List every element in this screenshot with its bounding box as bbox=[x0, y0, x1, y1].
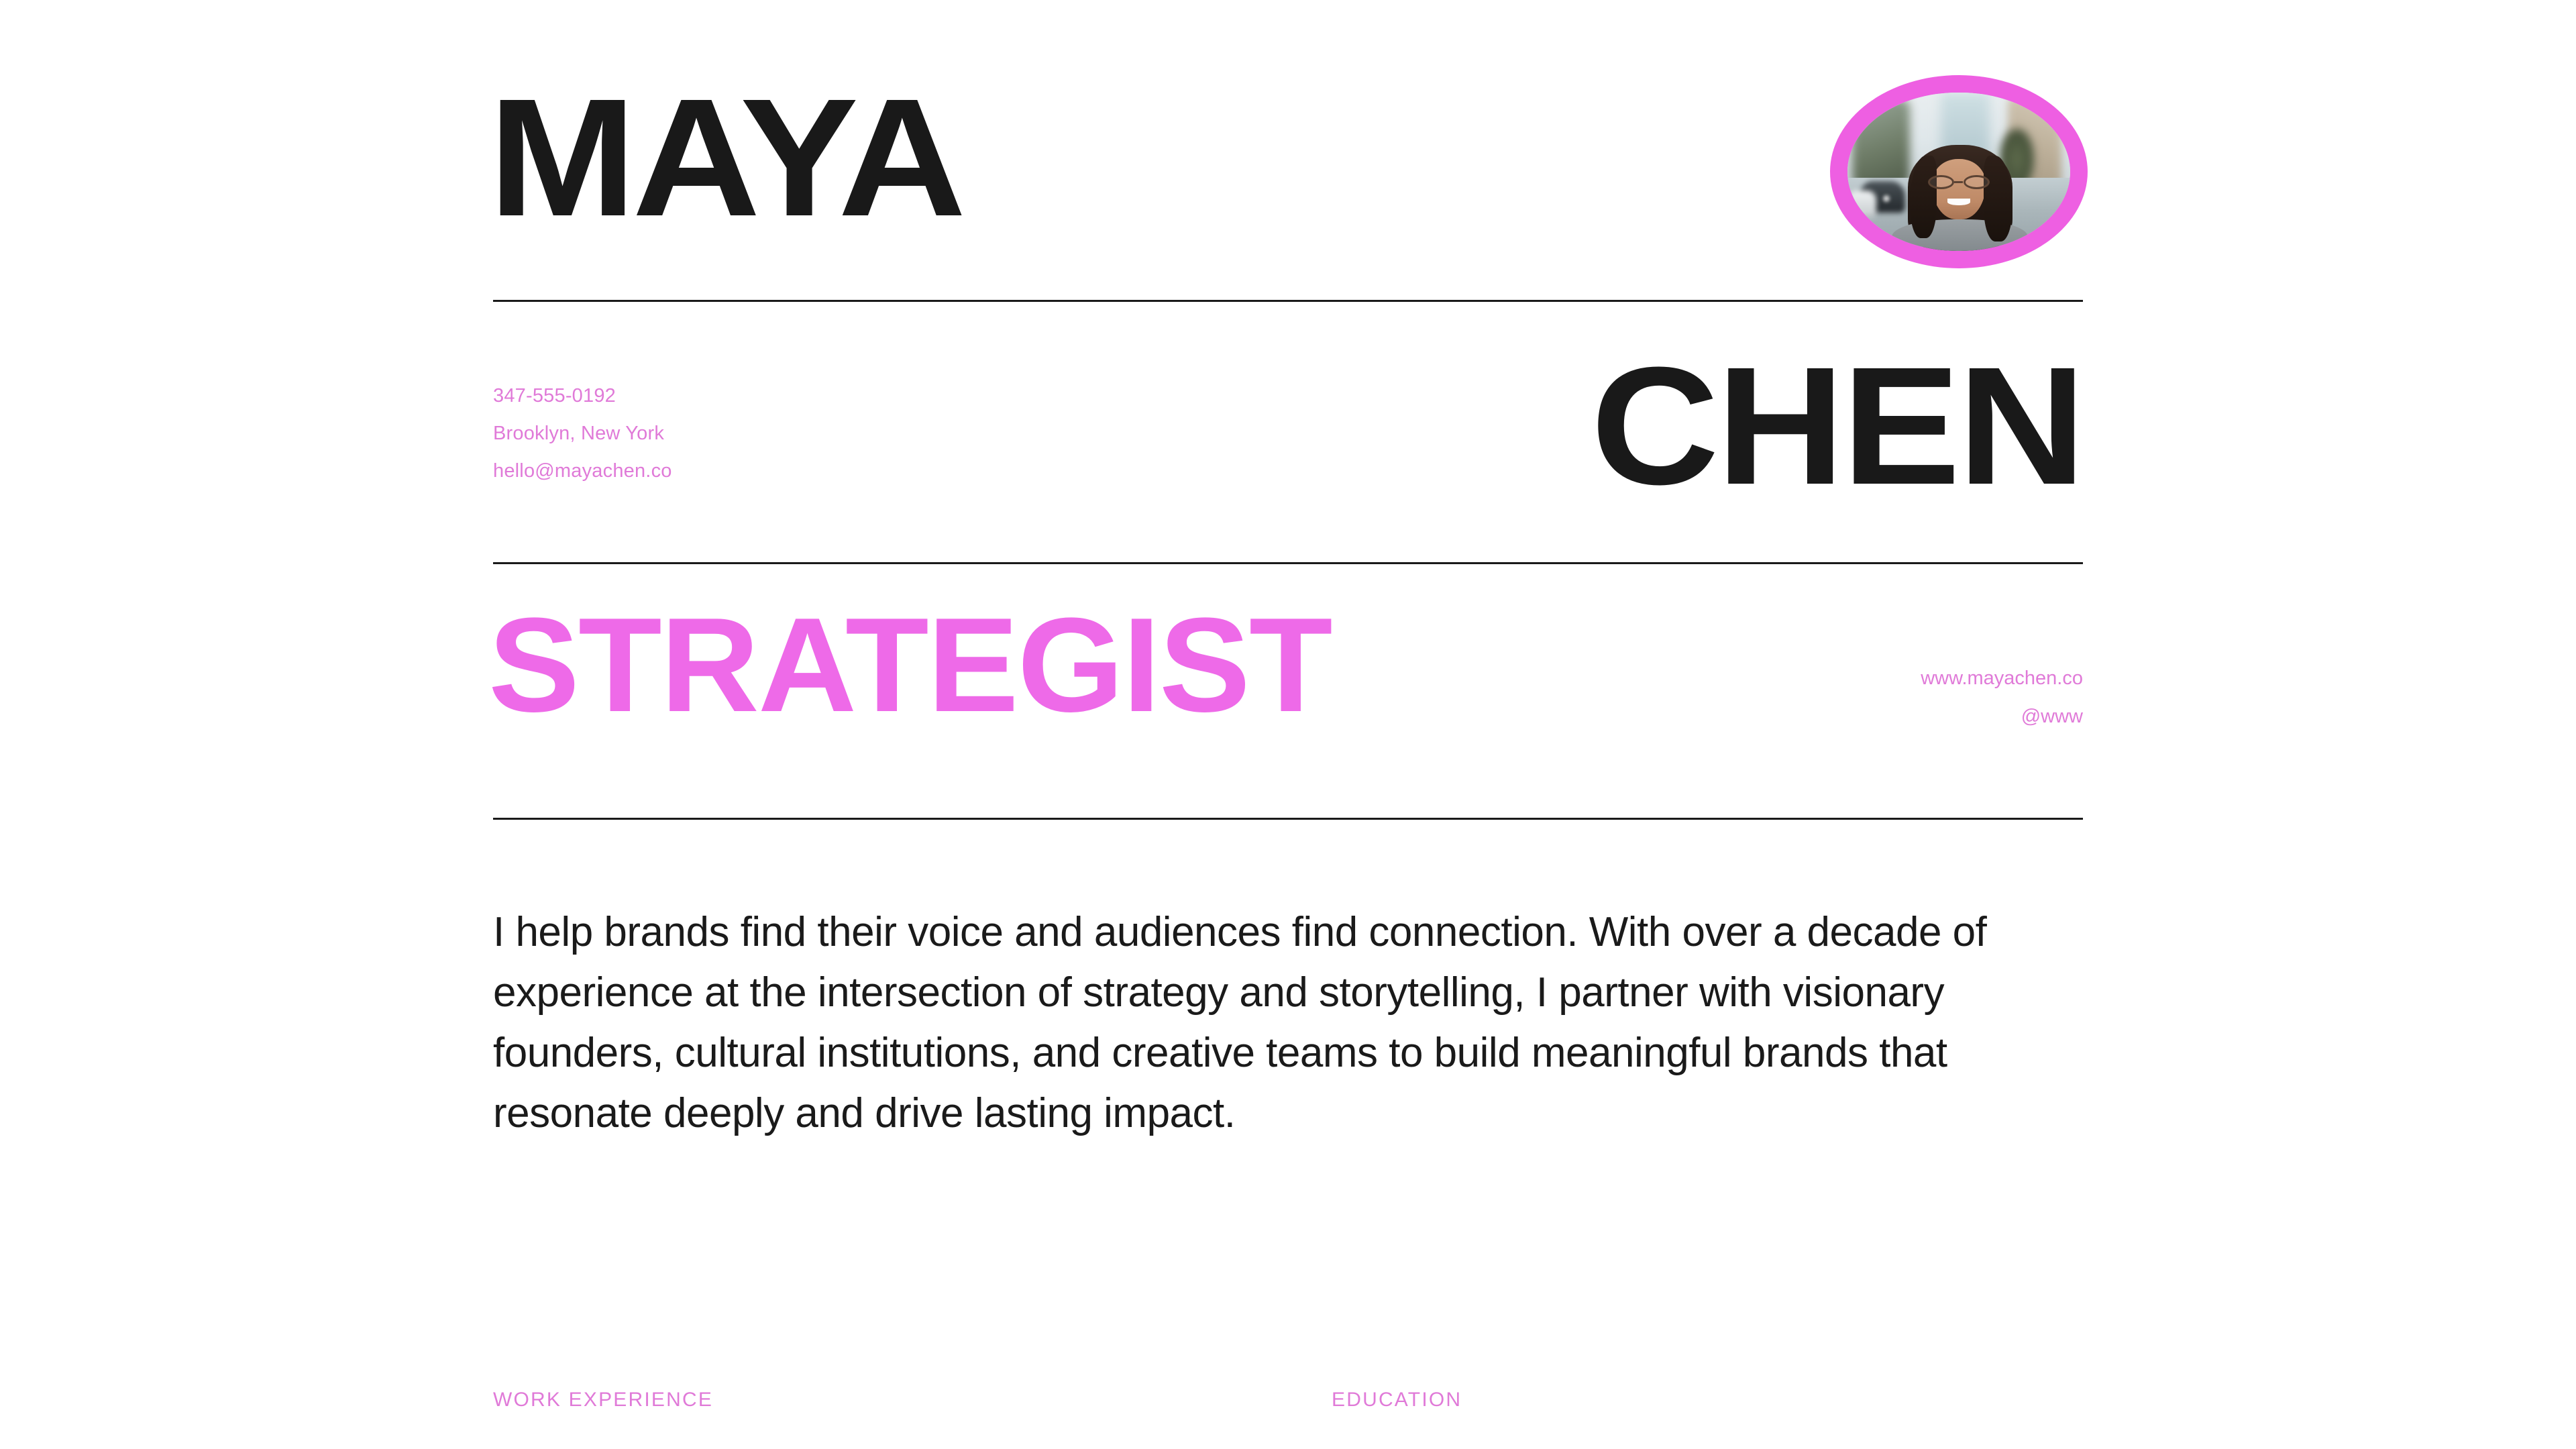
photo-car-light bbox=[1847, 191, 1876, 217]
website-link[interactable]: www.mayachen.co bbox=[1921, 659, 2083, 698]
links-block: www.mayachen.co @www bbox=[1921, 659, 2083, 736]
divider-bottom bbox=[493, 818, 2083, 820]
photo-lens-left bbox=[1928, 175, 1954, 189]
divider-middle bbox=[493, 562, 2083, 564]
glasses-icon bbox=[1928, 175, 1990, 189]
contact-location: Brooklyn, New York bbox=[493, 415, 672, 452]
role-heading: STRATEGIST bbox=[488, 598, 1331, 733]
contact-phone[interactable]: 347-555-0192 bbox=[493, 377, 672, 415]
divider-top bbox=[493, 300, 2083, 302]
resume-page: MAYA 347-555-0192 bbox=[0, 0, 2576, 1449]
section-heading-work-experience: WORK EXPERIENCE bbox=[493, 1389, 713, 1411]
social-link[interactable]: @www bbox=[1921, 698, 2083, 736]
contact-block: 347-555-0192 Brooklyn, New York hello@ma… bbox=[493, 377, 672, 490]
first-name-heading: MAYA bbox=[488, 74, 962, 241]
avatar-photo bbox=[1847, 93, 2070, 251]
section-heading-education: EDUCATION bbox=[1332, 1389, 1462, 1411]
photo-building-left bbox=[1852, 99, 1910, 187]
last-name-heading: CHEN bbox=[1591, 342, 2083, 510]
avatar bbox=[1830, 75, 2088, 268]
photo-lens-right bbox=[1964, 175, 1990, 189]
summary-paragraph: I help brands find their voice and audie… bbox=[493, 902, 2083, 1144]
photo-lens-bridge bbox=[1954, 181, 1963, 183]
contact-email[interactable]: hello@mayachen.co bbox=[493, 452, 672, 490]
photo-headlight bbox=[1881, 194, 1892, 203]
photo-smile bbox=[1947, 199, 1970, 205]
